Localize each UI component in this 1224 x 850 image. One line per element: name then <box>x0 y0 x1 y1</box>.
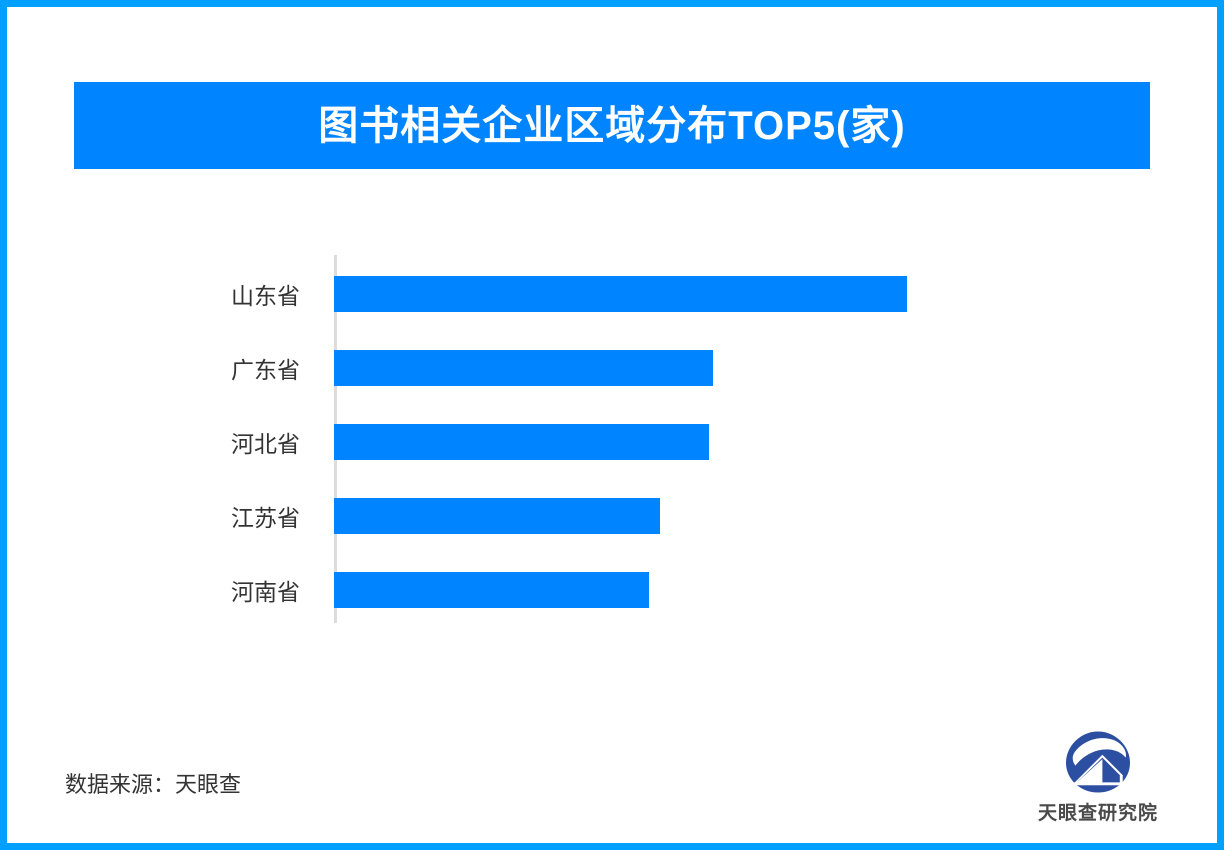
data-source-note: 数据来源：天眼查 <box>65 767 241 799</box>
tianyancha-eye-mark-icon <box>1061 730 1135 794</box>
bar-chart: 山东省 广东省 河北省 江苏省 河南省 <box>7 7 1217 843</box>
bar-category-label: 山东省 <box>231 277 300 311</box>
bar-track <box>334 572 1154 608</box>
bar-track <box>334 424 1154 460</box>
bar-fill[interactable] <box>334 276 907 312</box>
bar-category-label: 广东省 <box>231 351 300 385</box>
bar-fill[interactable] <box>334 572 649 608</box>
logo-wordmark: 天眼查研究院 <box>1038 798 1158 825</box>
brand-logo: 天眼查研究院 <box>1025 730 1171 835</box>
bar-fill[interactable] <box>334 350 713 386</box>
bar-track <box>334 350 1154 386</box>
bar-category-label: 河北省 <box>231 425 300 459</box>
infographic-page: 图书相关企业区域分布TOP5(家) 山东省 广东省 河北省 江苏省 <box>0 0 1224 850</box>
chart-bar-row: 河南省 <box>7 572 1217 608</box>
bar-track <box>334 276 1154 312</box>
bar-category-label: 江苏省 <box>231 499 300 533</box>
chart-bar-row: 江苏省 <box>7 498 1217 534</box>
chart-bar-row: 广东省 <box>7 350 1217 386</box>
chart-bar-row: 河北省 <box>7 424 1217 460</box>
bar-fill[interactable] <box>334 498 660 534</box>
bar-track <box>334 498 1154 534</box>
bar-fill[interactable] <box>334 424 709 460</box>
bar-category-label: 河南省 <box>231 573 300 607</box>
chart-bar-row: 山东省 <box>7 276 1217 312</box>
